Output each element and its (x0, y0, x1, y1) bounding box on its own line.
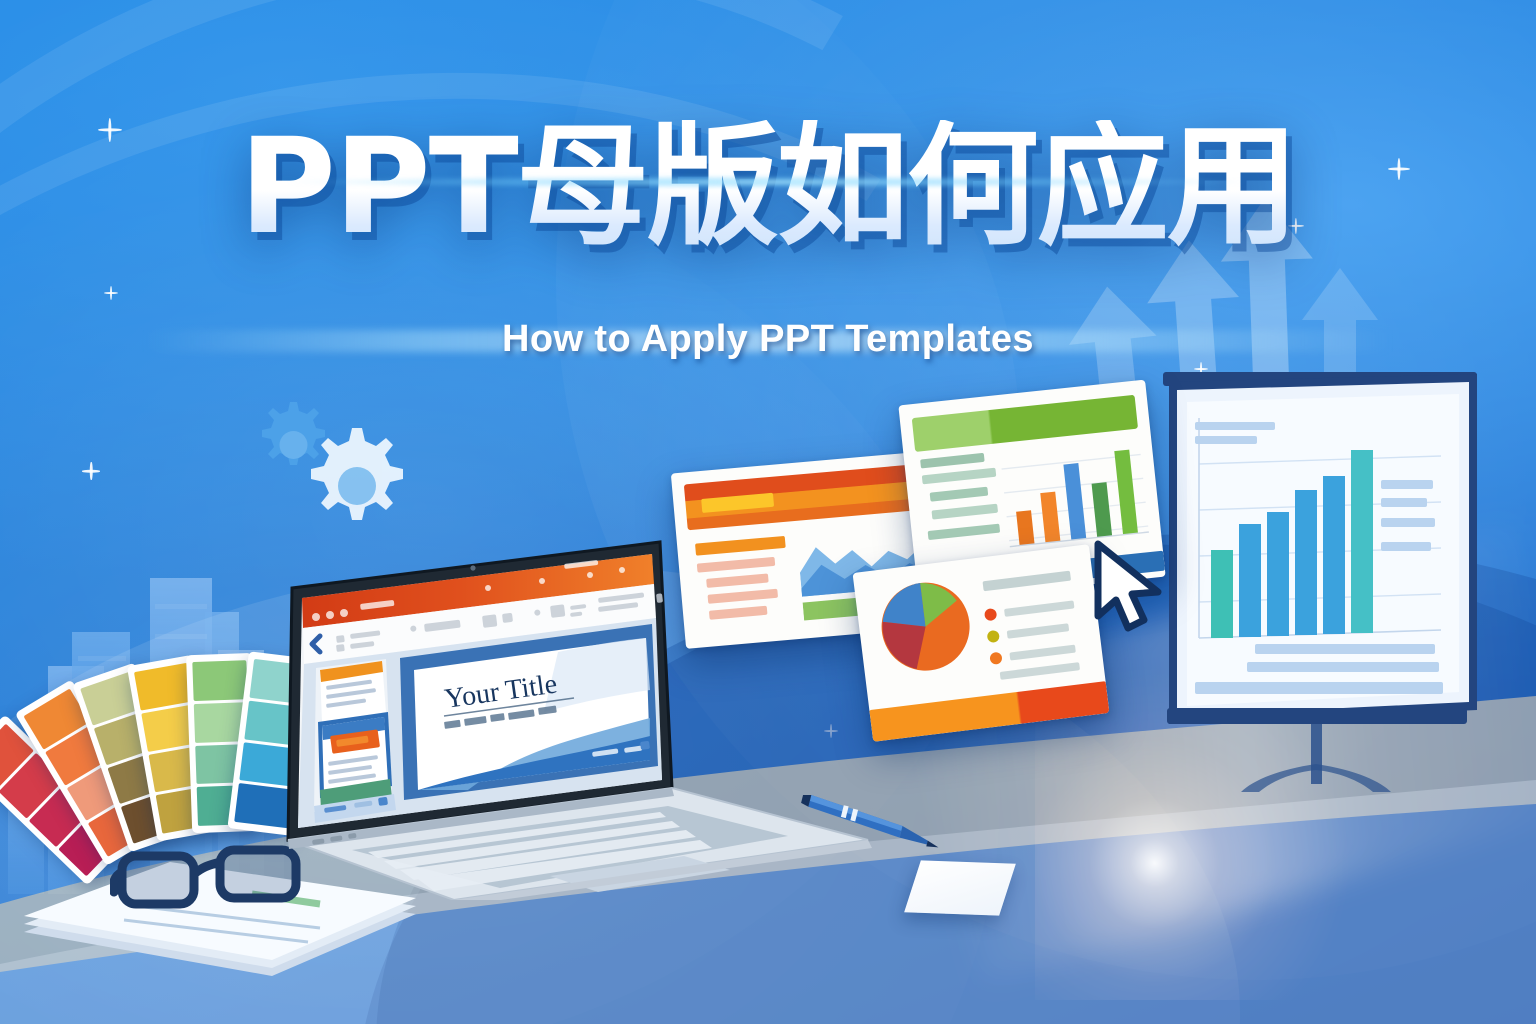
sticky-note (904, 860, 1016, 915)
card-legend-dot (987, 630, 1000, 643)
card-text-line (931, 504, 998, 520)
card-legend-line (1000, 662, 1080, 680)
poster-canvas: PPT母版如何应用 How to Apply PPT Templates (0, 0, 1536, 1024)
projector-screen (1155, 372, 1485, 792)
card-legend-title (982, 571, 1071, 592)
card-text-line (928, 524, 1001, 540)
mouse-cursor-icon[interactable] (1092, 540, 1168, 636)
slide-card-pie-chart[interactable] (853, 544, 1110, 742)
card-text-line (922, 468, 997, 485)
card-legend-line (1004, 600, 1074, 616)
card-legend-dot (989, 652, 1002, 665)
blue-pen (795, 790, 945, 850)
card-text-line (930, 487, 989, 502)
card-legend-dot (984, 608, 997, 621)
card-pie-chart (872, 573, 979, 680)
title-glow-line (288, 176, 1248, 188)
card-legend-line (1007, 623, 1070, 638)
slide-thumb-1 (320, 661, 386, 722)
card-legend-line (1009, 645, 1075, 661)
gear-small-icon (262, 402, 325, 465)
page-subtitle: How to Apply PPT Templates (0, 318, 1536, 361)
sparkle-3 (104, 286, 118, 300)
card-text-line (920, 453, 985, 469)
gear-large-icon (311, 428, 403, 520)
